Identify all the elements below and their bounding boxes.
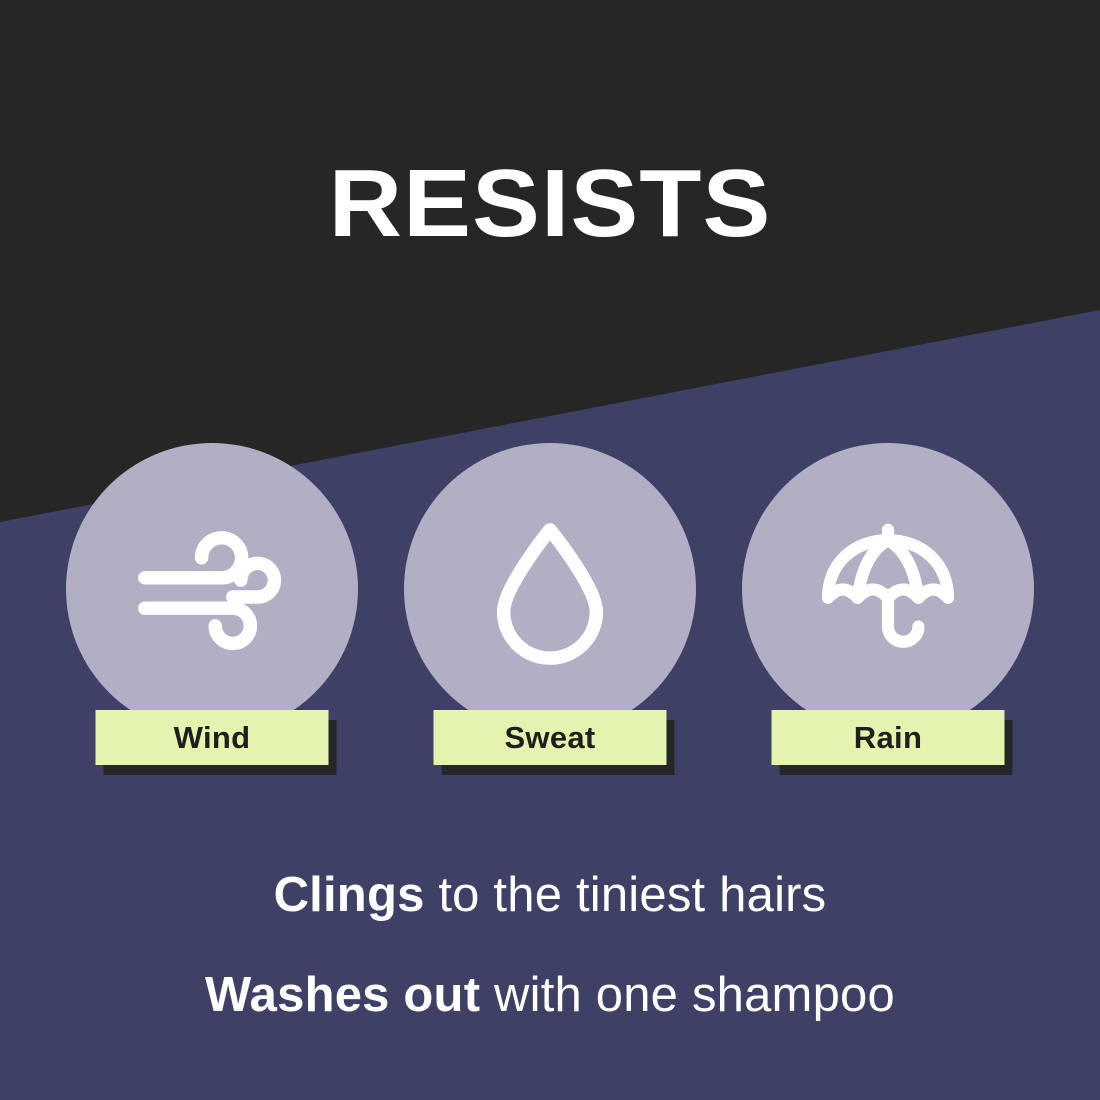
umbrella-icon [808,509,968,669]
benefit-line-2-lead: Washes out [205,968,480,1022]
chip-label: Wind [96,710,329,765]
wind-icon [132,509,292,669]
promo-poster: RESISTS Wind [0,0,1100,1100]
benefit-line-1: Clings to the tiniest hairs [0,845,1100,945]
benefit-copy-block: Clings to the tiniest hairs Washes out w… [0,845,1100,1045]
feature-chip-sweat[interactable]: Sweat [434,710,667,767]
feature-chip-wind[interactable]: Wind [96,710,329,767]
benefit-line-2: Washes out with one shampoo [0,945,1100,1045]
feature-item-rain: Rain [742,443,1034,773]
chip-label: Sweat [434,710,667,765]
water-drop-icon [470,509,630,669]
feature-item-wind: Wind [66,443,358,773]
feature-row: Wind Sweat [0,443,1100,773]
feature-chip-rain[interactable]: Rain [772,710,1005,767]
benefit-line-2-rest: with one shampoo [480,968,895,1022]
chip-label: Rain [772,710,1005,765]
feature-item-sweat: Sweat [404,443,696,773]
benefit-line-1-rest: to the tiniest hairs [425,868,827,922]
benefit-line-1-lead: Clings [274,868,425,922]
page-title: RESISTS [0,156,1100,252]
